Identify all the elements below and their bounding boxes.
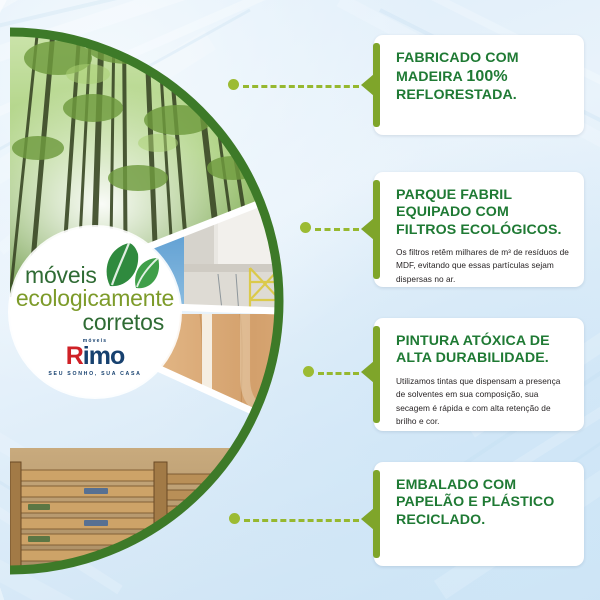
badge-line-3: corretos bbox=[10, 311, 164, 334]
card-body: Os filtros retêm milhares de m³ de resíd… bbox=[396, 246, 570, 286]
card-arrow-pointer bbox=[361, 218, 374, 240]
card-title: FABRICADO COMMADEIRA 100%REFLORESTADA. bbox=[396, 50, 570, 104]
card-title: PARQUE FABRIL EQUIPADO COM FILTROS ECOLÓ… bbox=[396, 187, 570, 239]
rimo-logo-r: R bbox=[66, 342, 83, 370]
card-accent-bar bbox=[373, 326, 380, 423]
card-title: EMBALADO COM PAPELÃO E PLÁSTICO RECICLAD… bbox=[396, 477, 570, 529]
card-accent-bar bbox=[373, 470, 380, 558]
card-title-l3: REFLORESTADA. bbox=[396, 87, 517, 103]
card-pintura-atoxica[interactable]: PINTURA ATÓXICA DE ALTA DURABILIDADE. Ut… bbox=[374, 318, 584, 431]
card-title-percent: 100% bbox=[466, 68, 507, 85]
card-body: Utilizamos tintas que dispensam a presen… bbox=[396, 375, 570, 429]
card-title: PINTURA ATÓXICA DE ALTA DURABILIDADE. bbox=[396, 333, 570, 368]
eco-badge: móveis ecologicamente corretos móveis Ri… bbox=[10, 227, 180, 397]
card-arrow-pointer bbox=[361, 508, 374, 530]
card-accent-bar bbox=[373, 43, 380, 127]
connector-dash-2 bbox=[315, 228, 359, 231]
rimo-logo-wordmark: Rimo bbox=[10, 344, 180, 370]
rimo-logo-tagline: SEU SONHO, SUA CASA bbox=[10, 371, 180, 377]
card-madeira-reflorestada[interactable]: FABRICADO COMMADEIRA 100%REFLORESTADA. bbox=[374, 35, 584, 135]
connector-dot-2 bbox=[300, 222, 311, 233]
connector-dash-1 bbox=[243, 85, 359, 88]
card-arrow-pointer bbox=[361, 361, 374, 383]
card-accent-bar bbox=[373, 180, 380, 279]
rimo-logo: móveis Rimo SEU SONHO, SUA CASA bbox=[10, 339, 180, 377]
card-title-l2: MADEIRA bbox=[396, 69, 466, 85]
connector-dot-4 bbox=[229, 513, 240, 524]
badge-line-2: ecologicamente bbox=[10, 287, 180, 310]
rimo-logo-rest: imo bbox=[83, 342, 124, 370]
card-title-l1: FABRICADO COM bbox=[396, 50, 519, 66]
connector-dash-4 bbox=[244, 519, 359, 522]
card-embalagem-reciclada[interactable]: EMBALADO COM PAPELÃO E PLÁSTICO RECICLAD… bbox=[374, 462, 584, 566]
card-arrow-pointer bbox=[361, 74, 374, 96]
connector-dash-3 bbox=[318, 372, 359, 375]
connector-dot-1 bbox=[228, 79, 239, 90]
badge-line-1: móveis bbox=[25, 264, 180, 287]
infographic-canvas: móveis ecologicamente corretos móveis Ri… bbox=[0, 0, 600, 600]
connector-dot-3 bbox=[303, 366, 314, 377]
card-filtros-ecologicos[interactable]: PARQUE FABRIL EQUIPADO COM FILTROS ECOLÓ… bbox=[374, 172, 584, 287]
